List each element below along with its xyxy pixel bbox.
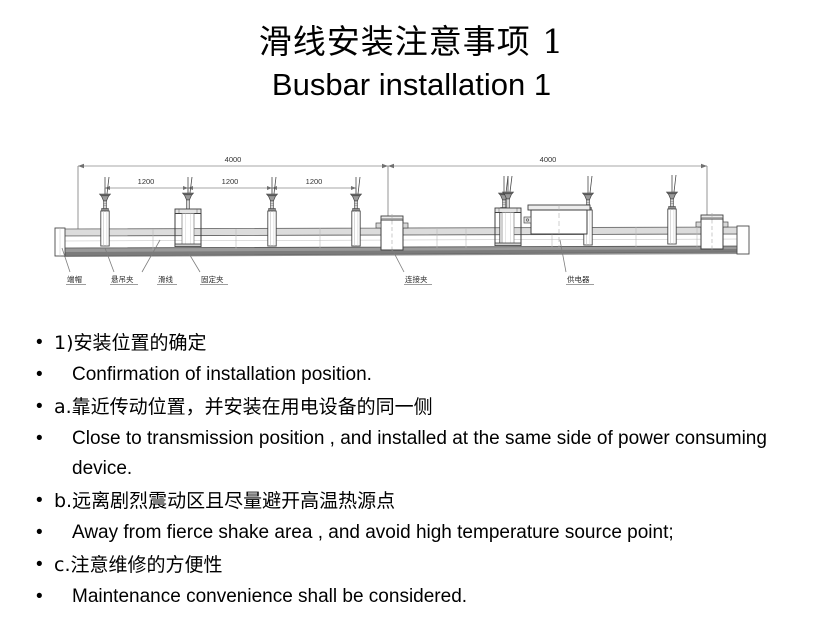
list-item: • Confirmation of installation position. bbox=[28, 360, 808, 390]
svg-text:悬吊夹: 悬吊夹 bbox=[111, 274, 134, 284]
bullet-marker: • bbox=[28, 550, 54, 580]
dim-span-2: 1200 bbox=[222, 177, 239, 186]
list-item: • b.远离剧烈震动区且尽量避开高温热源点 bbox=[28, 486, 808, 516]
callout-labels: 端帽 悬吊夹 滑线 固定夹 连接夹 bbox=[66, 274, 594, 285]
callout-connection-clamp: 连接夹 bbox=[404, 274, 432, 285]
list-item: • Maintenance convenience shall be consi… bbox=[28, 582, 808, 612]
list-item: • a.靠近传动位置，并安装在用电设备的同一侧 bbox=[28, 392, 808, 422]
dim-span-1: 1200 bbox=[138, 177, 155, 186]
list-item: • Away from fierce shake area , and avoi… bbox=[28, 518, 808, 548]
busbar-diagram-svg: 4000 4000 1200 1200 1200 bbox=[0, 148, 823, 308]
callout-busbar: 滑线 bbox=[157, 274, 177, 285]
dim-overall-left: 4000 bbox=[225, 155, 242, 164]
bullet-marker: • bbox=[28, 328, 54, 358]
bullet-list: • 1)安装位置的确定 • Confirmation of installati… bbox=[28, 328, 808, 614]
dim-overall-right: 4000 bbox=[540, 155, 557, 164]
bullet-text-5: b.远离剧烈震动区且尽量避开高温热源点 bbox=[54, 486, 808, 516]
svg-text:滑线: 滑线 bbox=[158, 274, 173, 284]
bullet-text-1: 1)安装位置的确定 bbox=[54, 328, 808, 358]
bullet-text-7: c.注意维修的方便性 bbox=[54, 550, 808, 580]
bullet-text-2: Confirmation of installation position. bbox=[54, 360, 808, 390]
bullet-marker: • bbox=[28, 392, 54, 422]
svg-text:连接夹: 连接夹 bbox=[405, 274, 428, 284]
callout-fixing-clamp: 固定夹 bbox=[200, 274, 228, 285]
busbar-diagram: 4000 4000 1200 1200 1200 bbox=[0, 148, 823, 308]
bullet-marker: • bbox=[28, 518, 54, 548]
svg-text:端帽: 端帽 bbox=[67, 274, 82, 284]
dim-span-3: 1200 bbox=[306, 177, 323, 186]
busbar-rail bbox=[62, 227, 748, 257]
title-chinese: 滑线安装注意事项 1 bbox=[0, 22, 823, 62]
callout-power-feeder: 供电器 bbox=[566, 274, 594, 285]
bullet-marker: • bbox=[28, 424, 54, 454]
bullet-text-6: Away from fierce shake area , and avoid … bbox=[54, 518, 808, 548]
bullet-text-4: Close to transmission position , and ins… bbox=[54, 424, 808, 484]
bullet-marker: • bbox=[28, 582, 54, 612]
bullet-marker: • bbox=[28, 360, 54, 390]
svg-text:供电器: 供电器 bbox=[567, 274, 590, 284]
list-item: • 1)安装位置的确定 bbox=[28, 328, 808, 358]
slide-title-block: 滑线安装注意事项 1 Busbar installation 1 bbox=[0, 22, 823, 105]
slide-canvas: 滑线安装注意事项 1 Busbar installation 1 bbox=[0, 0, 823, 635]
bullet-marker: • bbox=[28, 486, 54, 516]
bullet-text-8: Maintenance convenience shall be conside… bbox=[54, 582, 808, 612]
list-item: • Close to transmission position , and i… bbox=[28, 424, 808, 484]
list-item: • c.注意维修的方便性 bbox=[28, 550, 808, 580]
dimension-values: 4000 4000 1200 1200 1200 bbox=[138, 155, 557, 186]
callout-end-cap: 端帽 bbox=[66, 274, 86, 285]
svg-text:固定夹: 固定夹 bbox=[201, 274, 224, 284]
title-english: Busbar installation 1 bbox=[0, 65, 823, 105]
callout-hanger-clamp: 悬吊夹 bbox=[110, 274, 138, 285]
bullet-text-3: a.靠近传动位置，并安装在用电设备的同一侧 bbox=[54, 392, 808, 422]
end-sleeve-part bbox=[737, 226, 749, 254]
